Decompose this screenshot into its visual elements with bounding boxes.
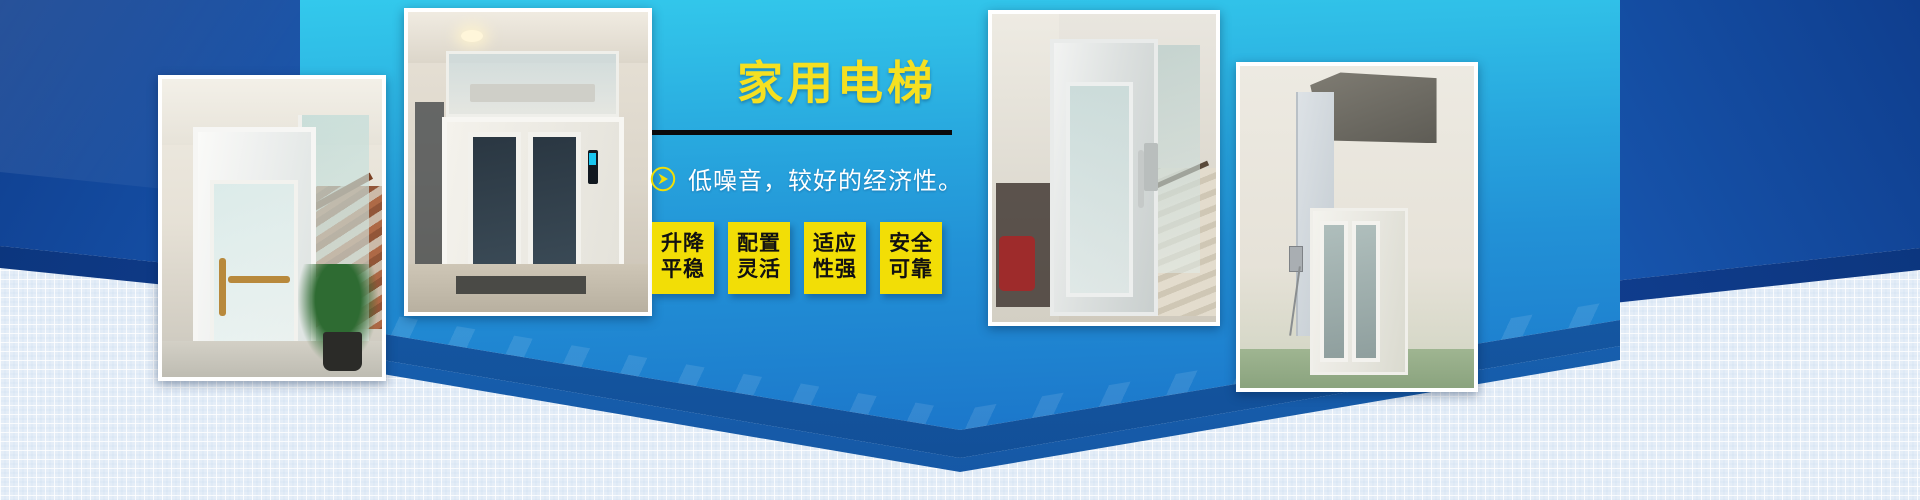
feature-badge: 升降 平稳 bbox=[652, 222, 714, 294]
subtitle-row: 低噪音，较好的经济性。 bbox=[650, 161, 1010, 196]
photo-elevator-under-installation bbox=[1236, 62, 1478, 392]
banner-text-block: 家用电梯 低噪音，较好的经济性。 升降 平稳 配置 灵活 适应 性强 bbox=[650, 60, 1010, 294]
title-divider bbox=[652, 130, 952, 135]
feature-badge: 安全 可靠 bbox=[880, 222, 942, 294]
banner-title: 家用电梯 bbox=[650, 60, 1010, 106]
feature-badge: 配置 灵活 bbox=[728, 222, 790, 294]
banner-subtitle: 低噪音，较好的经济性。 bbox=[688, 161, 963, 196]
photo-glass-home-lift-with-staircase bbox=[158, 75, 386, 381]
photo-stainless-elevator-beside-stairs bbox=[988, 10, 1220, 326]
photo-white-double-door-elevator bbox=[404, 8, 652, 316]
circle-arrow-right-icon bbox=[650, 166, 676, 192]
badge-line-1: 升降 bbox=[656, 231, 710, 257]
badge-line-2: 性强 bbox=[808, 257, 862, 283]
badge-line-1: 配置 bbox=[732, 231, 786, 257]
badge-line-1: 安全 bbox=[884, 231, 938, 257]
badge-line-2: 灵活 bbox=[732, 257, 786, 283]
badge-line-1: 适应 bbox=[808, 231, 862, 257]
feature-badge: 适应 性强 bbox=[804, 222, 866, 294]
badge-line-2: 可靠 bbox=[884, 257, 938, 283]
feature-badge-list: 升降 平稳 配置 灵活 适应 性强 安全 可靠 bbox=[652, 222, 1010, 294]
badge-line-2: 平稳 bbox=[656, 257, 710, 283]
home-elevator-banner: 家用电梯 低噪音，较好的经济性。 升降 平稳 配置 灵活 适应 性强 bbox=[0, 0, 1920, 500]
